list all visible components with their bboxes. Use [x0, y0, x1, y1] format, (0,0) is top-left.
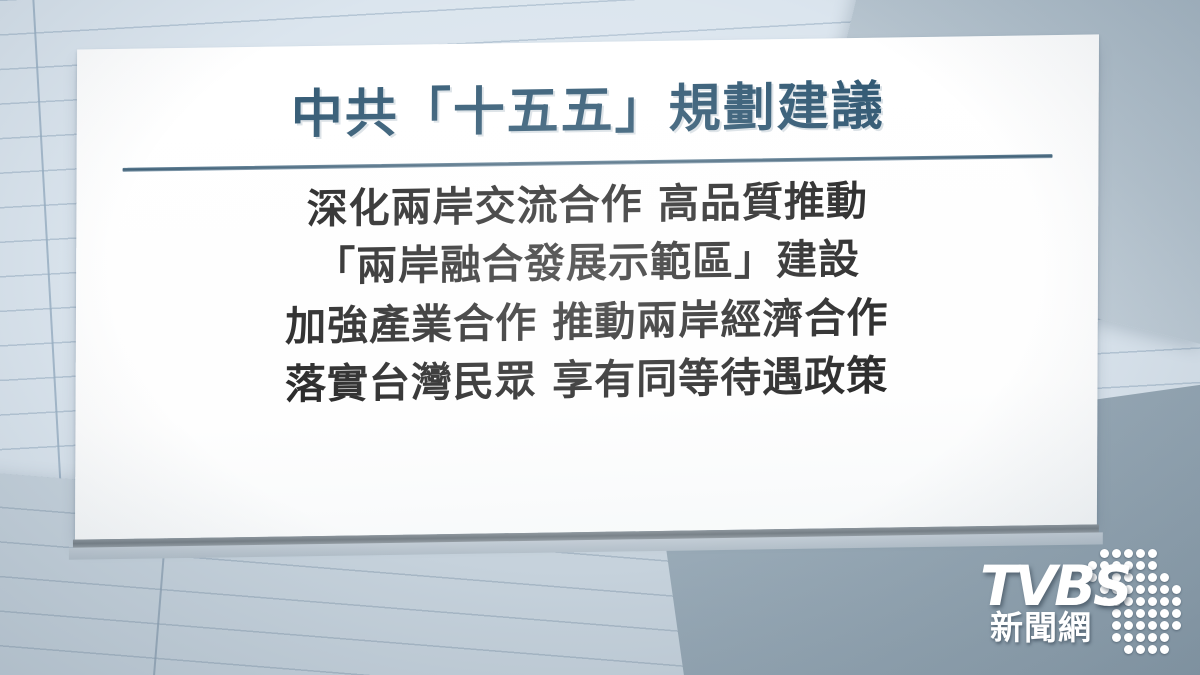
title-divider — [123, 154, 1053, 172]
info-card: 中共「十五五」規劃建議 深化兩岸交流合作 高品質推動 「兩岸融合發展示範區」建設… — [75, 34, 1099, 539]
logo-inner: TVBS 新聞網 — [974, 551, 1186, 661]
page-title: 中共「十五五」規劃建議 — [291, 78, 885, 147]
bullet-list: 深化兩岸交流合作 高品質推動 「兩岸融合發展示範區」建設 加強產業合作 推動兩岸… — [285, 176, 889, 408]
list-item: 加強產業合作 推動兩岸經濟合作 — [285, 293, 888, 350]
info-card-wrapper: 中共「十五五」規劃建議 深化兩岸交流合作 高品質推動 「兩岸融合發展示範區」建設… — [75, 34, 1099, 539]
broadcast-graphic-stage: 中共「十五五」規劃建議 深化兩岸交流合作 高品質推動 「兩岸融合發展示範區」建設… — [0, 0, 1200, 675]
list-item: 落實台灣民眾 享有同等待遇政策 — [285, 351, 888, 408]
list-item: 「兩岸融合發展示範區」建設 — [314, 235, 860, 291]
logo-subtitle: 新聞網 — [990, 611, 1092, 644]
tvbs-logo: TVBS 新聞網 — [974, 551, 1186, 661]
list-item: 深化兩岸交流合作 高品質推動 — [307, 177, 868, 234]
info-card-content: 中共「十五五」規劃建議 深化兩岸交流合作 高品質推動 「兩岸融合發展示範區」建設… — [75, 34, 1099, 539]
logo-wordmark: TVBS — [980, 559, 1130, 614]
